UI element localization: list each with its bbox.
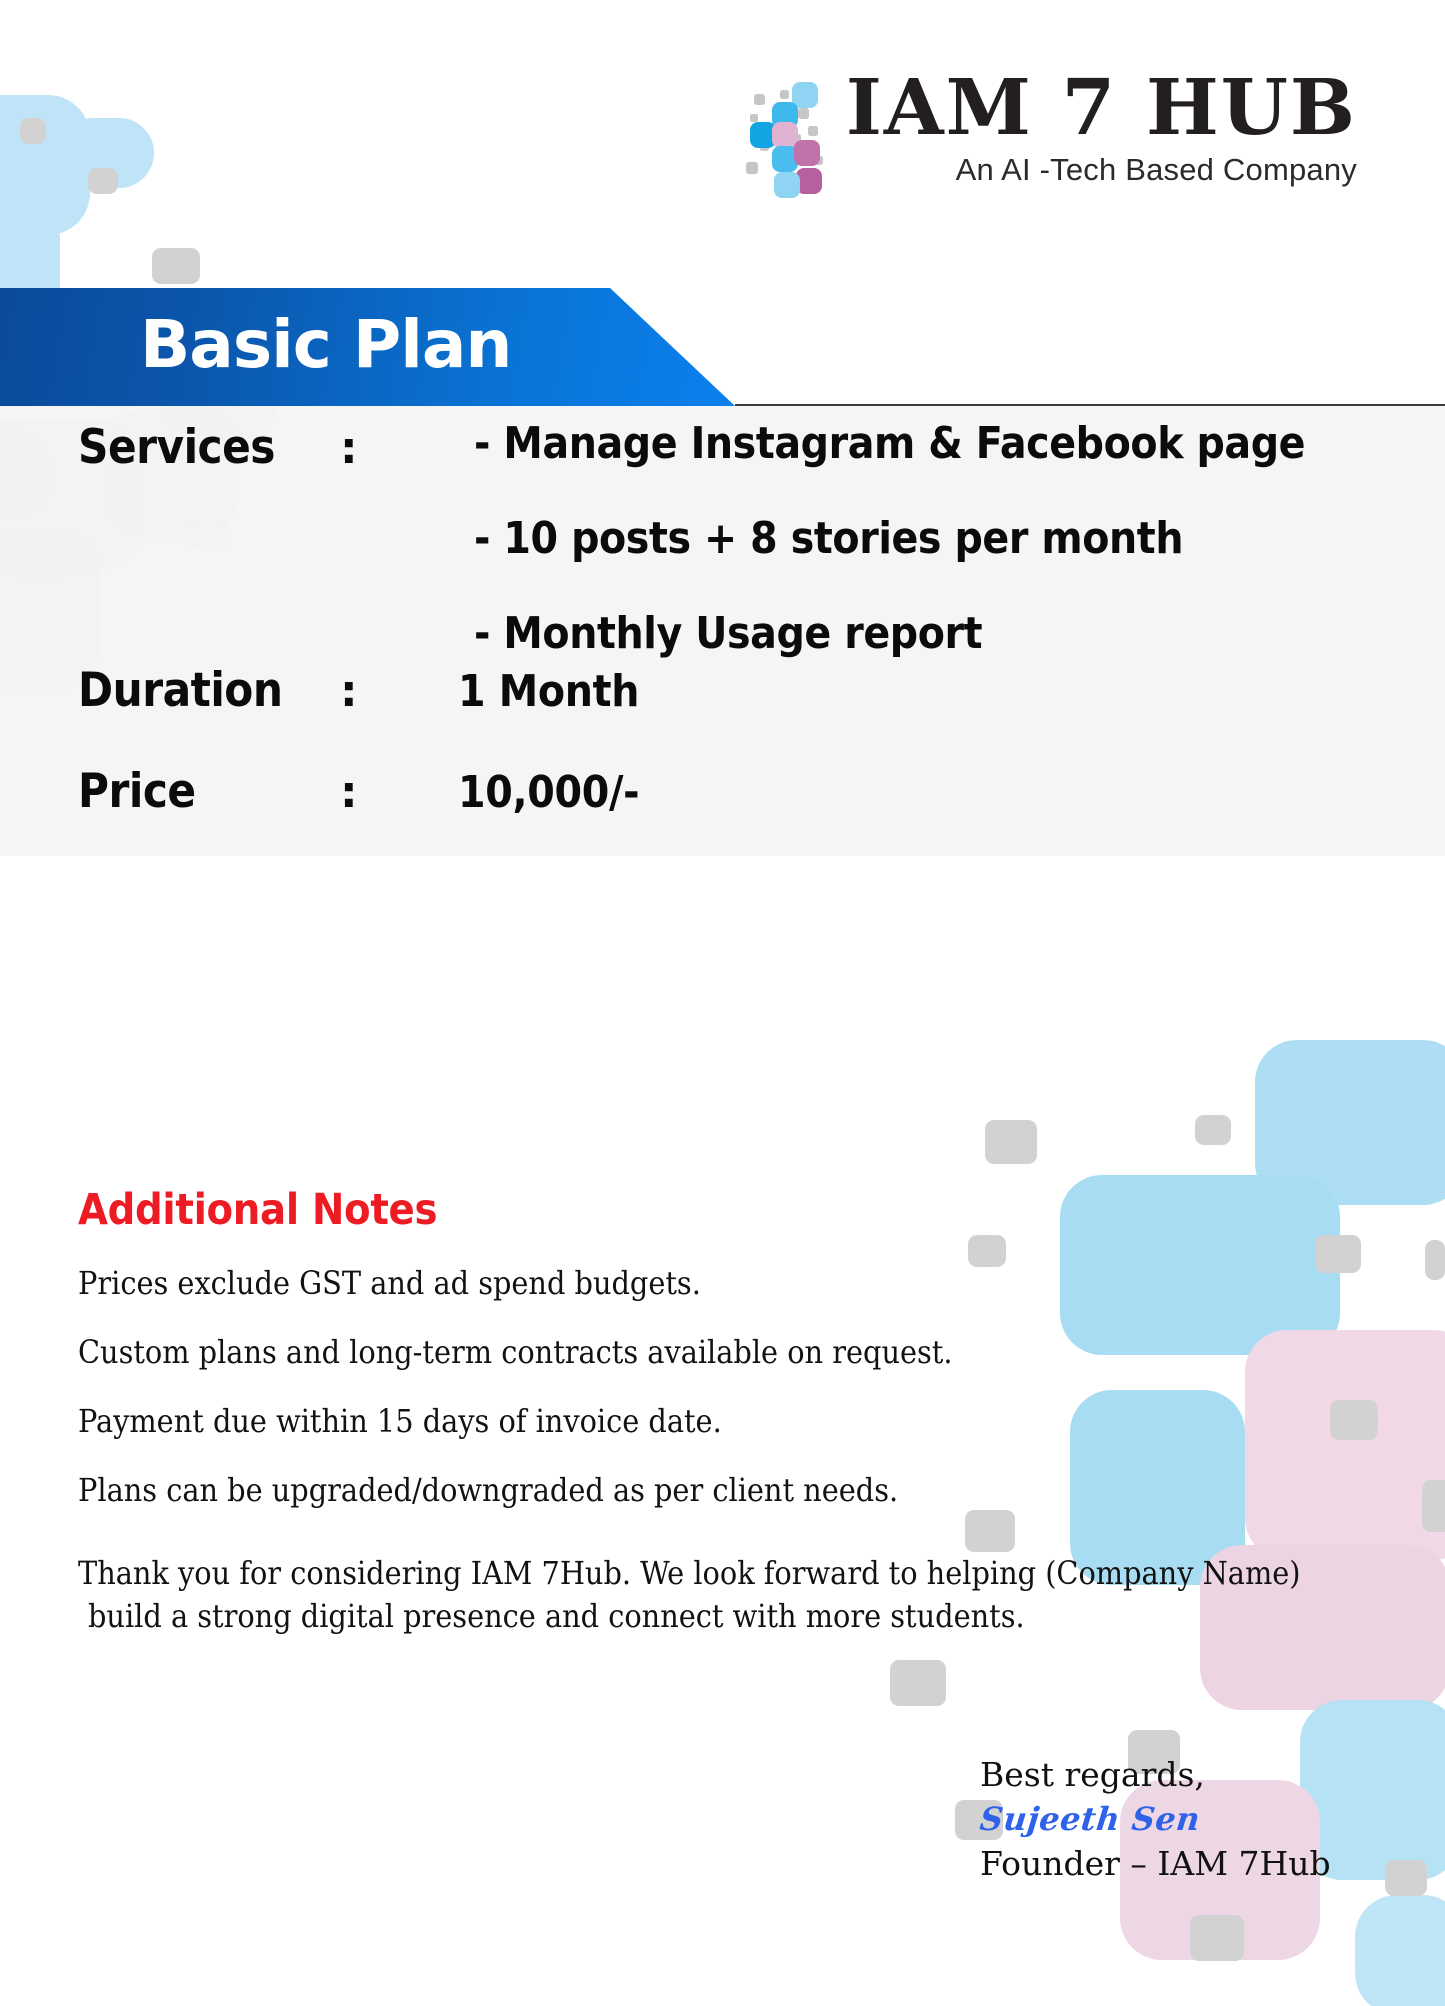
service-item: - 10 posts + 8 stories per month [474,513,1305,608]
deco-square [1422,1480,1445,1532]
service-item: - Manage Instagram & Facebook page [474,418,1305,513]
closing-line-1: Thank you for considering IAM 7Hub. We l… [78,1554,1301,1592]
spec-row-price: Price : 10,000/- [78,764,639,819]
note-item: Plans can be upgraded/downgraded as per … [78,1474,1368,1506]
deco-blob-blue [1255,1040,1445,1205]
note-item: Payment due within 15 days of invoice da… [78,1405,1368,1437]
closing-paragraph: Thank you for considering IAM 7Hub. We l… [78,1552,1388,1638]
note-item: Custom plans and long-term contracts ava… [78,1336,1368,1368]
price-label: Price [78,764,340,819]
signature-regards: Best regards, [980,1755,1331,1794]
document-header: IAM 7 HUB An AI -Tech Based Company [0,0,1445,290]
plan-document-page: IAM 7 HUB An AI -Tech Based Company Basi… [0,0,1445,2006]
deco-square [1385,1860,1427,1896]
signature-role: Founder – IAM 7Hub [980,1844,1331,1883]
brand-name: IAM 7 HUB [846,72,1357,146]
services-value-list: - Manage Instagram & Facebook page - 10 … [474,418,1305,703]
services-label: Services [78,420,340,475]
company-logo: IAM 7 HUB An AI -Tech Based Company [744,72,1357,198]
deco-square [890,1660,946,1706]
deco-square [985,1120,1037,1164]
closing-line-2: build a strong digital presence and conn… [78,1595,1388,1638]
duration-value: 1 Month [458,666,639,717]
note-item: Prices exclude GST and ad spend budgets. [78,1267,1368,1299]
spec-row-duration: Duration : 1 Month [78,663,639,718]
price-colon: : [340,767,412,818]
deco-square [1425,1240,1445,1280]
services-colon: : [340,423,412,474]
duration-colon: : [340,666,412,717]
signature-name: Sujeeth Sen [978,1800,1333,1838]
deco-blob-blue [1355,1895,1445,2006]
plan-title: Basic Plan [140,306,511,383]
mosaic-squares-logo-icon [744,80,836,198]
plan-banner: Basic Plan [0,288,1445,406]
additional-notes-heading: Additional Notes [78,1185,1368,1235]
price-value: 10,000/- [458,767,639,818]
spec-row-services: Services : [78,420,412,475]
deco-square [1195,1115,1231,1145]
signature-block: Best regards, Sujeeth Sen Founder – IAM … [980,1755,1331,1883]
brand-tagline: An AI -Tech Based Company [956,152,1357,188]
duration-label: Duration [78,663,340,718]
deco-square [1190,1915,1244,1961]
additional-notes-section: Additional Notes Prices exclude GST and … [78,1185,1368,1638]
